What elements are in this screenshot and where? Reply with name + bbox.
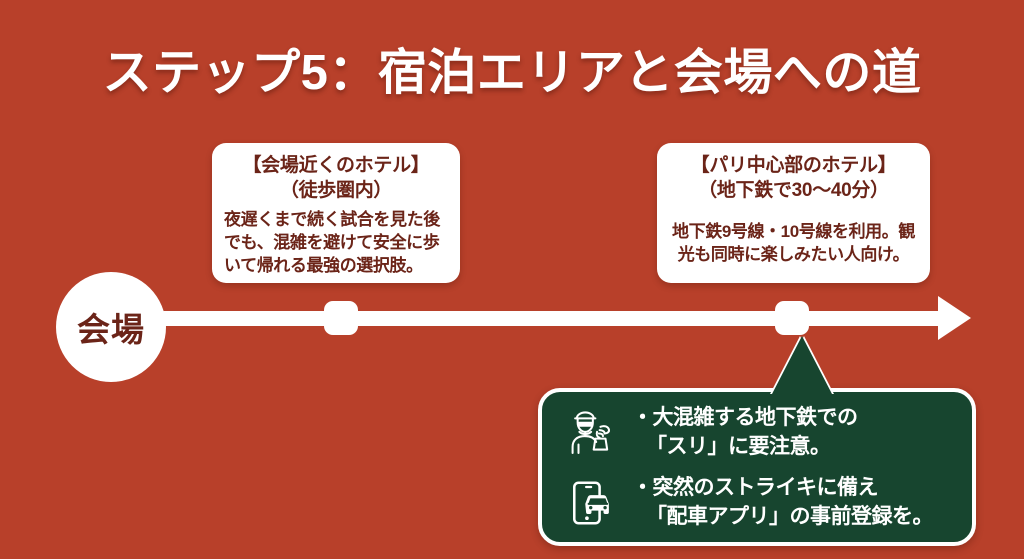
warning-box: ・大混雑する地下鉄での 「スリ」に要注意。 ・突然のストライキに備え 「配車アプ…: [538, 388, 976, 546]
rideshare-app-phone-icon: [556, 474, 628, 532]
timeline-arrow-icon: [938, 296, 971, 340]
callout-venue-hotel-head: 【会場近くのホテル】: [224, 153, 448, 178]
warning-item-pickpocket: ・大混雑する地下鉄での 「スリ」に要注意。: [632, 403, 962, 461]
timeline-node-paris-hotel[interactable]: [775, 301, 809, 335]
callout-venue-hotel-body: 夜遅くまで続く試合を見た後でも、混雑を避けて安全に歩いて帰れる最強の選択肢。: [224, 208, 448, 277]
infographic-slide: ステップ5：宿泊エリアと会場への道 会場 【会場近くのホテル】 （徒歩圏内） 夜…: [0, 0, 1024, 559]
callout-paris-hotel-head: 【パリ中心部のホテル】: [669, 153, 918, 178]
callout-paris-hotel: 【パリ中心部のホテル】 （地下鉄で30〜40分） 地下鉄9号線・10号線を利用。…: [657, 143, 930, 283]
callout-paris-hotel-body: 地下鉄9号線・10号線を利用。観光も同時に楽しみたい人向け。: [669, 220, 918, 266]
warning-item-pickpocket-line-2: 「スリ」に要注意。: [632, 432, 962, 461]
warning-item-rideshare: ・突然のストライキに備え 「配車アプリ」の事前登録を。: [632, 473, 962, 531]
callout-paris-hotel-sub: （地下鉄で30〜40分）: [669, 178, 918, 204]
warning-icon-column: [556, 402, 628, 532]
warning-items-list: ・大混雑する地下鉄での 「スリ」に要注意。 ・突然のストライキに備え 「配車アプ…: [628, 403, 962, 531]
warning-item-rideshare-line-2: 「配車アプリ」の事前登録を。: [632, 502, 962, 531]
page-title: ステップ5：宿泊エリアと会場への道: [0, 42, 1024, 104]
warning-item-rideshare-line-1: ・突然のストライキに備え: [632, 473, 962, 502]
warning-box-pointer-icon: [772, 336, 832, 394]
timeline-start-venue: 会場: [56, 272, 166, 382]
timeline-track: [163, 311, 953, 326]
venue-label: 会場: [77, 303, 145, 351]
warning-item-pickpocket-line-1: ・大混雑する地下鉄での: [632, 403, 962, 432]
callout-venue-hotel: 【会場近くのホテル】 （徒歩圏内） 夜遅くまで続く試合を見た後でも、混雑を避けて…: [212, 143, 460, 283]
timeline-node-venue-hotel[interactable]: [324, 301, 358, 335]
callout-venue-hotel-sub: （徒歩圏内）: [224, 178, 448, 204]
pickpocket-thief-icon: [556, 402, 628, 460]
